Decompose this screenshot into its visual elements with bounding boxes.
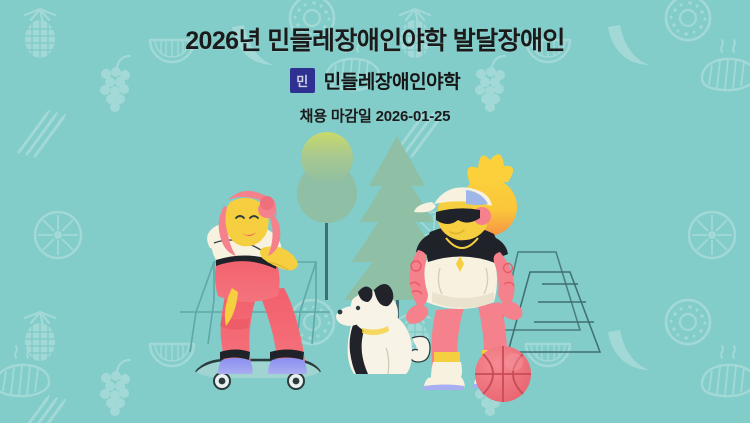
company-name: 민들레장애인야학 [324, 67, 461, 94]
banner-text-block: 2026년 민들레장애인야학 발달장애인 민 민들레장애인야학 채용 마감일 2… [0, 26, 750, 126]
company-logo-badge: 민 [290, 68, 315, 93]
shoe-left [218, 358, 253, 374]
basketball [475, 346, 531, 402]
climbing-frame-outline [500, 252, 600, 352]
job-posting-banner: 2026년 민들레장애인야학 발달장애인 민 민들레장애인야학 채용 마감일 2… [0, 0, 750, 423]
round-double-tree [297, 132, 357, 300]
shoe-right [268, 358, 307, 374]
company-row: 민 민들레장애인야학 [0, 67, 750, 94]
page-title: 2026년 민들레장애인야학 발달장애인 [0, 26, 750, 57]
application-deadline: 채용 마감일 2026-01-25 [0, 105, 750, 126]
